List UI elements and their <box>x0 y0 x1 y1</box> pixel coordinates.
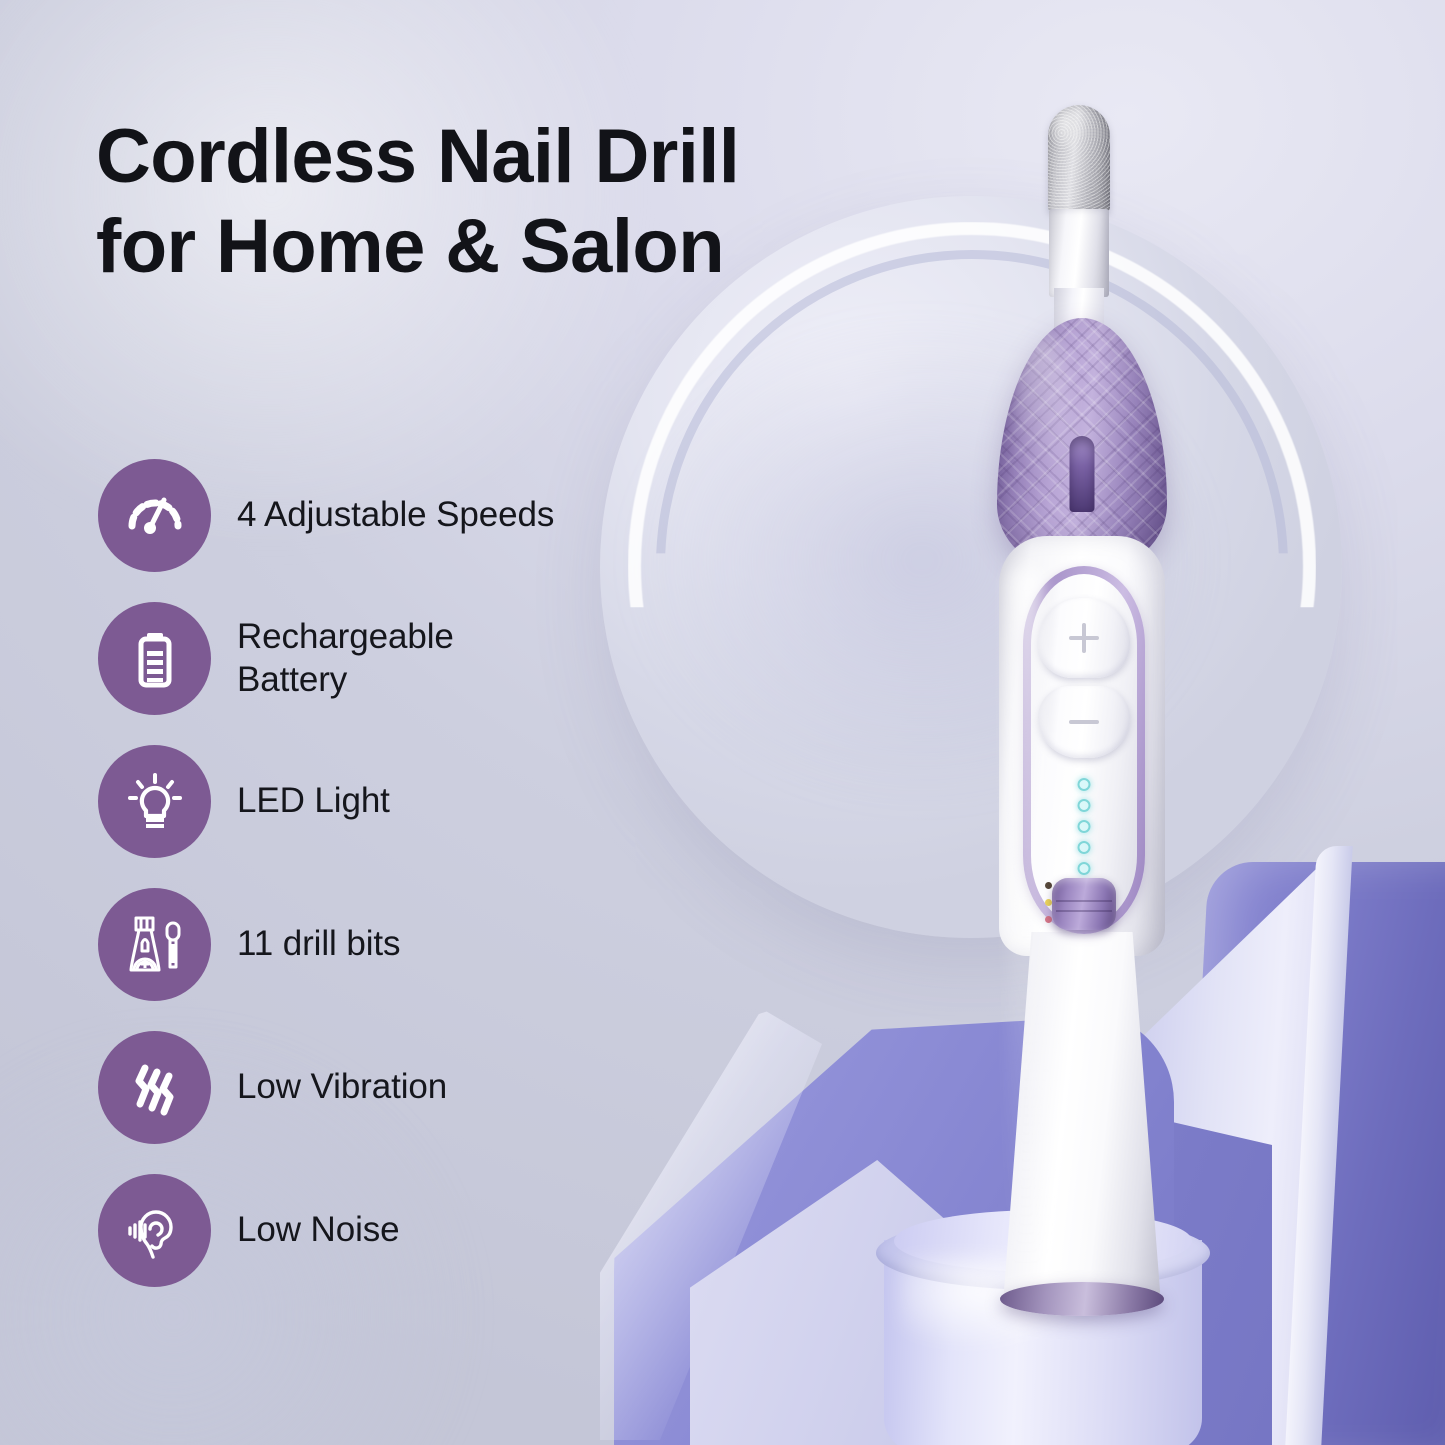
speed-led-indicators <box>1078 778 1091 875</box>
drill-bits-icon <box>98 888 211 1001</box>
feature-item-led: LED Light <box>98 742 618 861</box>
led-indicator <box>1078 820 1091 833</box>
led-indicator <box>1078 799 1091 812</box>
ear-sound-icon <box>98 1174 211 1287</box>
feature-label: Low Noise <box>237 1209 400 1252</box>
feature-label: 4 Adjustable Speeds <box>237 494 554 537</box>
speed-increase-button[interactable] <box>1038 598 1130 678</box>
status-indicator-dots <box>1045 882 1052 933</box>
handle-highlight <box>1009 566 1043 1266</box>
feature-list: 4 Adjustable Speeds Rechargeable Battery <box>98 456 618 1290</box>
head-highlight <box>1013 332 1069 480</box>
feature-label: Low Vibration <box>237 1066 447 1109</box>
led-indicator <box>1078 778 1091 791</box>
feature-item-noise: Low Noise <box>98 1171 618 1290</box>
plus-icon <box>1069 623 1099 653</box>
lightbulb-icon <box>98 745 211 858</box>
bit-collar <box>1049 209 1109 297</box>
led-indicator <box>1078 841 1091 854</box>
handle-base-ring <box>1000 1282 1164 1316</box>
feature-item-battery: Rechargeable Battery <box>98 599 618 718</box>
drill-head <box>997 318 1167 570</box>
headline-line-2: for Home & Salon <box>96 202 916 292</box>
headline-line-1: Cordless Nail Drill <box>96 112 916 202</box>
feature-label: 11 drill bits <box>237 923 400 966</box>
feature-label: Rechargeable Battery <box>237 616 567 701</box>
speedometer-icon <box>98 459 211 572</box>
sanding-bit-icon <box>1048 105 1110 213</box>
status-dot-green <box>1045 882 1052 889</box>
feature-label: LED Light <box>237 780 390 823</box>
speed-decrease-button[interactable] <box>1038 686 1130 758</box>
feature-item-vibration: Low Vibration <box>98 1028 618 1147</box>
feature-item-bits: 11 drill bits <box>98 885 618 1004</box>
minus-icon <box>1069 707 1099 737</box>
rotary-speed-dial[interactable] <box>1052 878 1116 930</box>
head-vent-slot <box>1070 436 1095 512</box>
status-dot-red <box>1045 916 1052 923</box>
scene-stage: Cordless Nail Drill for Home & Salon 4 A… <box>0 0 1445 1445</box>
battery-icon <box>98 602 211 715</box>
vibration-icon <box>98 1031 211 1144</box>
feature-item-speeds: 4 Adjustable Speeds <box>98 456 618 575</box>
page-title: Cordless Nail Drill for Home & Salon <box>96 112 916 293</box>
product-nail-drill <box>975 96 1215 1296</box>
status-dot-yellow <box>1045 899 1052 906</box>
led-indicator <box>1078 862 1091 875</box>
